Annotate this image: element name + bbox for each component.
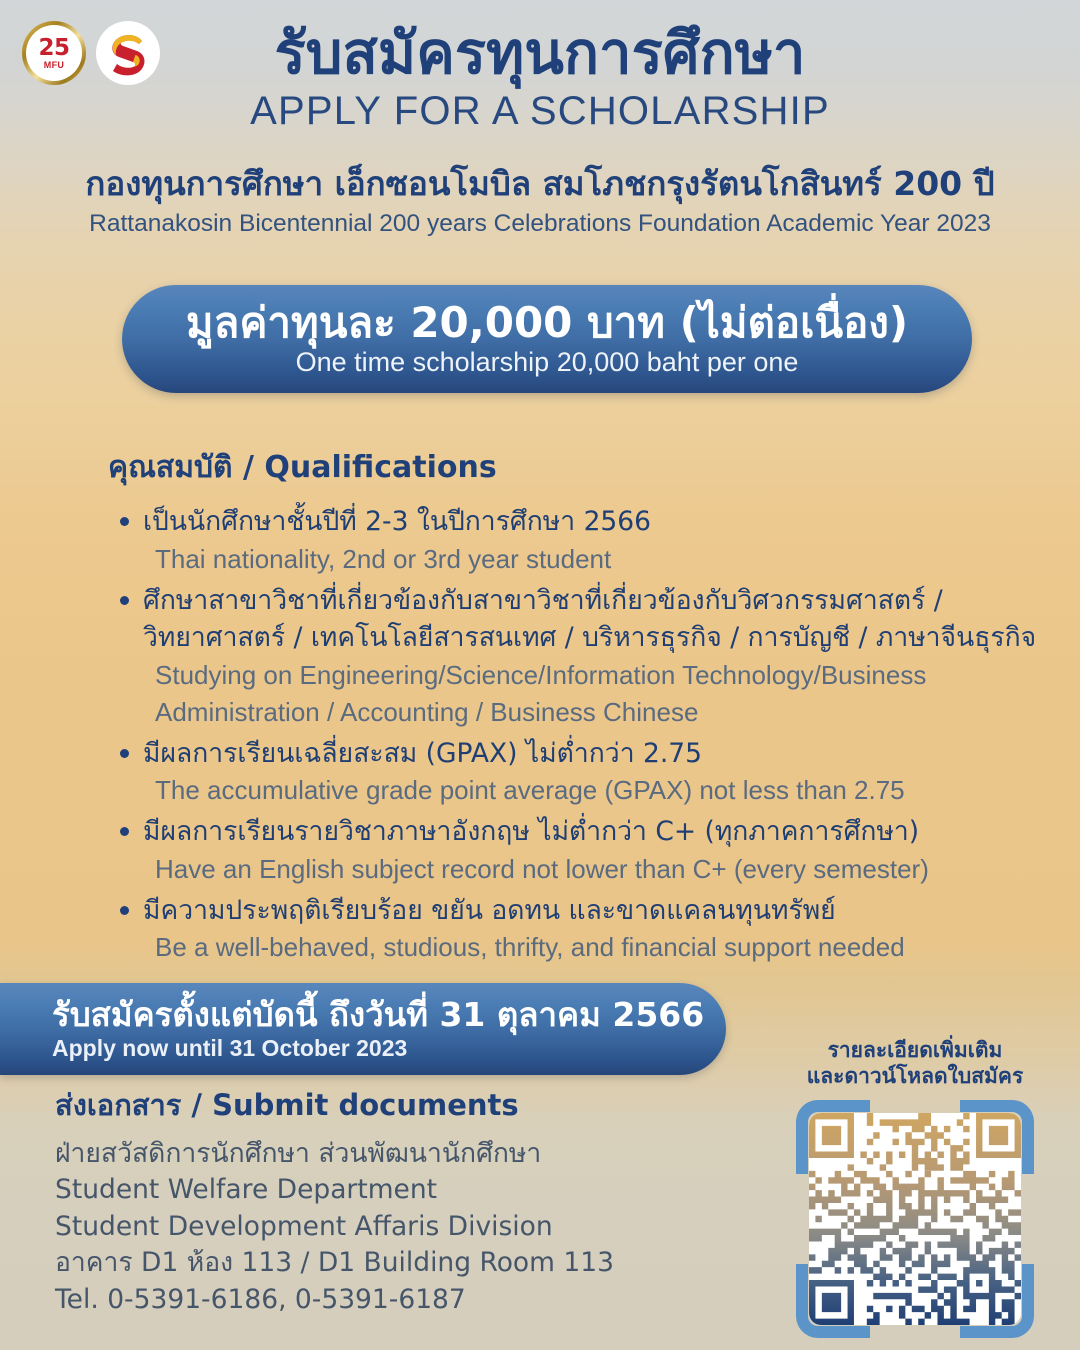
poster-header: รับสมัครทุนการศึกษา APPLY FOR A SCHOLARS… [0,0,1080,238]
page-title-english: APPLY FOR A SCHOLARSHIP [0,89,1080,133]
contact-line: Student Welfare Department [55,1172,755,1209]
qualification-english: Thai nationality, 2nd or 3rd year studen… [143,541,1048,578]
qualification-english: The accumulative grade point average (GP… [143,772,1048,809]
qualification-thai: ศึกษาสาขาวิชาที่เกี่ยวข้องกับสาขาวิชาที่… [143,582,1048,620]
qualification-thai: มีความประพฤติเรียบร้อย ขยัน อดทน และขาดแ… [143,892,1048,930]
bullet-icon [120,827,129,836]
deadline-thai: รับสมัครตั้งแต่บัดนี้ ถึงวันที่ 31 ตุลาค… [52,997,726,1033]
qualification-thai: มีผลการเรียนเฉลี่ยสะสม (GPAX) ไม่ต่ำกว่า… [143,735,1048,773]
application-deadline-banner: รับสมัครตั้งแต่บัดนี้ ถึงวันที่ 31 ตุลาค… [0,983,726,1075]
submit-heading: ส่งเอกสาร / Submit documents [55,1088,755,1123]
qualifications-heading: คุณสมบัติ / Qualifications [108,450,1048,486]
scholarship-amount-banner: มูลค่าทุนละ 20,000 บาท (ไม่ต่อเนื่อง) On… [122,285,972,393]
qualification-thai: เป็นนักศึกษาชั้นปีที่ 2-3 ในปีการศึกษา 2… [143,503,1048,541]
qualification-english: Studying on Engineering/Science/Informat… [143,657,1048,694]
qr-code-frame[interactable] [796,1100,1034,1338]
qr-code-image[interactable] [809,1113,1021,1325]
qualification-thai: มีผลการเรียนรายวิชาภาษาอังกฤษ ไม่ต่ำกว่า… [143,813,1048,851]
qualifications-list: เป็นนักศึกษาชั้นปีที่ 2-3 ในปีการศึกษา 2… [108,503,1048,966]
bullet-icon [120,517,129,526]
qualification-thai: วิทยาศาสตร์ / เทคโนโลยีสารสนเทศ / บริหาร… [143,619,1048,657]
qr-caption-line-2: และดาวน์โหลดใบสมัคร [775,1063,1055,1089]
bullet-icon [120,596,129,605]
contact-line: Student Development Affaris Division [55,1209,755,1246]
mfu-logo-label: MFU [38,61,69,70]
bullet-icon [120,749,129,758]
mfu-logo-number: 25 [38,37,69,60]
contact-line: อาคาร D1 ห้อง 113 / D1 Building Room 113 [55,1245,755,1282]
qualifications-section: คุณสมบัติ / Qualifications เป็นนักศึกษาช… [108,450,1048,970]
qualification-english: Be a well-behaved, studious, thrifty, an… [143,929,1048,966]
fund-name-thai: กองทุนการศึกษา เอ็กซอนโมบิล สมโภชกรุงรัต… [0,165,1080,203]
fund-name-english: Rattanakosin Bicentennial 200 years Cele… [0,209,1080,238]
qualification-english: Have an English subject record not lower… [143,851,1048,888]
list-item: มีผลการเรียนรายวิชาภาษาอังกฤษ ไม่ต่ำกว่า… [108,813,1048,888]
list-item: มีผลการเรียนเฉลี่ยสะสม (GPAX) ไม่ต่ำกว่า… [108,735,1048,810]
deadline-english: Apply now until 31 October 2023 [52,1036,726,1061]
amount-english: One time scholarship 20,000 baht per one [296,348,799,378]
qualification-english: Administration / Accounting / Business C… [143,694,1048,731]
submit-documents-section: ส่งเอกสาร / Submit documents ฝ่ายสวัสดิก… [55,1088,755,1319]
contact-line: ฝ่ายสวัสดิการนักศึกษา ส่วนพัฒนานักศึกษา [55,1136,755,1173]
amount-thai: มูลค่าทุนละ 20,000 บาท (ไม่ต่อเนื่อง) [186,300,908,345]
list-item: มีความประพฤติเรียบร้อย ขยัน อดทน และขาดแ… [108,892,1048,967]
bullet-icon [120,906,129,915]
contact-phone: Tel. 0-5391-6186, 0-5391-6187 [55,1282,755,1319]
qr-code-section: รายละเอียดเพิ่มเติม และดาวน์โหลดใบสมัคร [775,1037,1055,1338]
list-item: ศึกษาสาขาวิชาที่เกี่ยวข้องกับสาขาวิชาที่… [108,582,1048,731]
list-item: เป็นนักศึกษาชั้นปีที่ 2-3 ในปีการศึกษา 2… [108,503,1048,578]
scholarship-poster: 25 MFU รับสมัครทุนการศึกษา APPLY FOR A S… [0,0,1080,1350]
page-title-thai: รับสมัครทุนการศึกษา [0,22,1080,85]
qr-caption-line-1: รายละเอียดเพิ่มเติม [775,1037,1055,1063]
